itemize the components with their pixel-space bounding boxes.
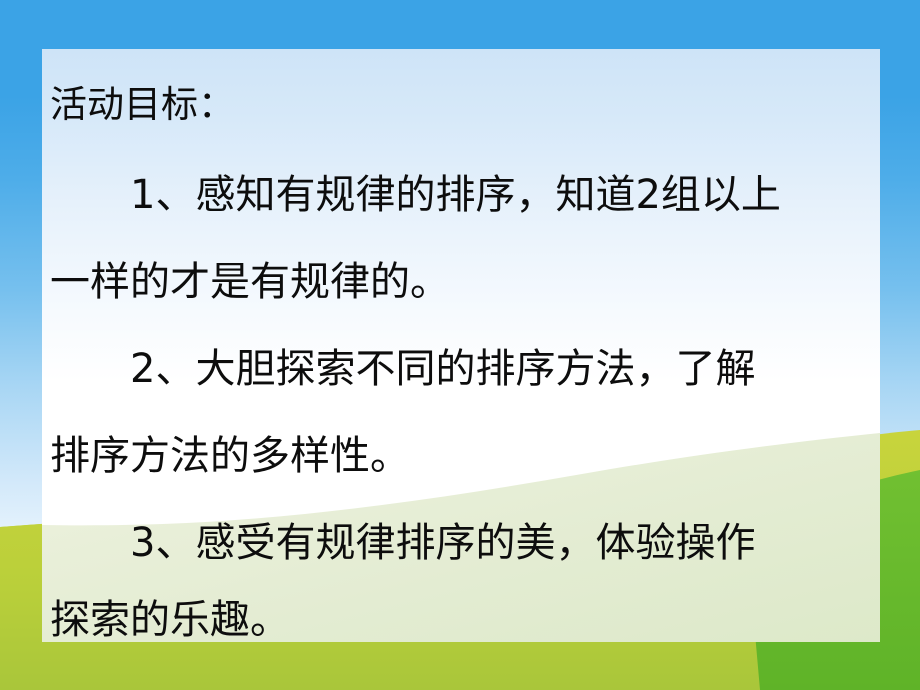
content-panel: 活动目标： 1、感知有规律的排序，知道2组以上 一样的才是有规律的。 2、大胆探… (42, 49, 880, 642)
objective-2-line-2: 排序方法的多样性。 (50, 434, 880, 478)
objectives-text-block: 活动目标： 1、感知有规律的排序，知道2组以上 一样的才是有规律的。 2、大胆探… (42, 49, 880, 642)
page-title: 活动目标： (50, 83, 880, 127)
objective-1-line-2: 一样的才是有规律的。 (50, 260, 880, 304)
objective-3-line-2: 探索的乐趣。 (50, 598, 880, 642)
objective-1-line-1: 1、感知有规律的排序，知道2组以上 (50, 173, 880, 217)
objective-3-line-1: 3、感受有规律排序的美，体验操作 (50, 521, 880, 565)
slide-root: 活动目标： 1、感知有规律的排序，知道2组以上 一样的才是有规律的。 2、大胆探… (0, 0, 920, 690)
objective-2-line-1: 2、大胆探索不同的排序方法，了解 (50, 347, 880, 391)
